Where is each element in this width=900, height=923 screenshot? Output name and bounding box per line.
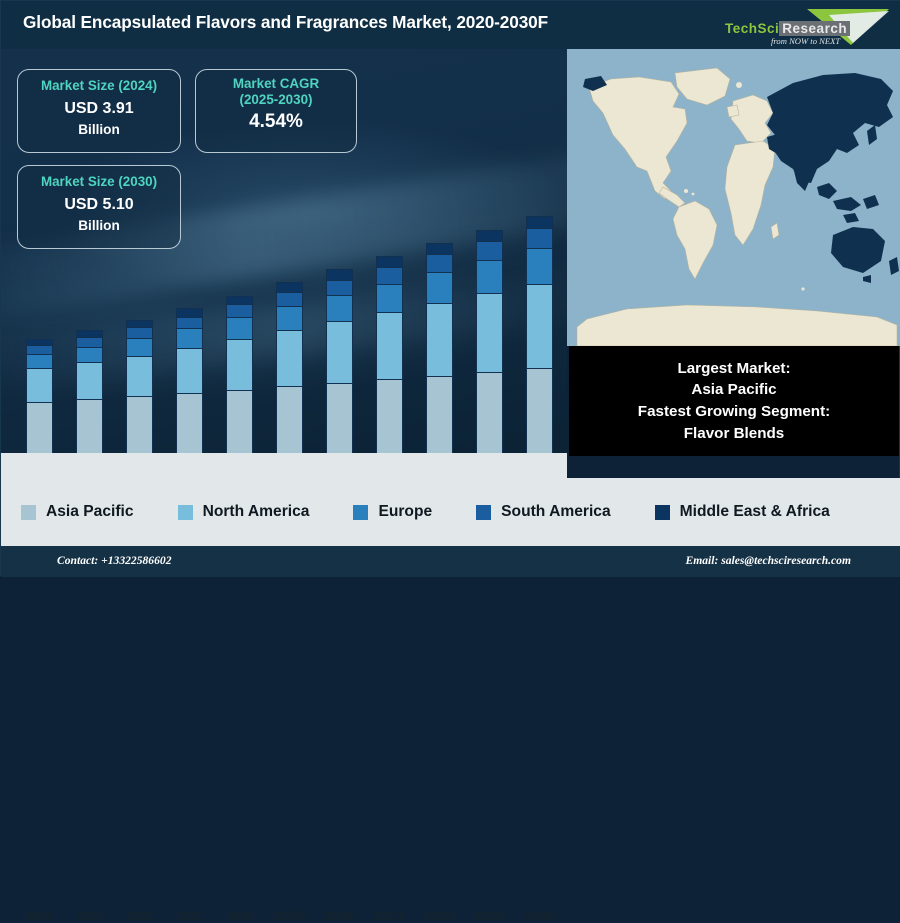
bar-segment-europe — [176, 328, 203, 348]
legend-item-europe[interactable]: Europe — [353, 503, 432, 521]
bar-segment-asia-pacific — [326, 383, 353, 456]
world-map-panel — [567, 49, 900, 346]
bar-segment-asia-pacific — [376, 379, 403, 456]
bar-segment-asia-pacific — [226, 390, 253, 456]
bar-segment-asia-pacific — [76, 399, 103, 456]
footer-email[interactable]: Email: sales@techsciresearch.com — [686, 554, 852, 567]
legend-swatch-icon — [353, 505, 368, 520]
x-tick-2028F: 2028F — [414, 910, 466, 923]
bar-segment-south-america — [426, 254, 453, 272]
bar-2020 — [26, 339, 53, 456]
fastest-segment-value: Flavor Blends — [684, 423, 784, 445]
bar-segment-middle-east-africa — [126, 320, 153, 327]
highlight-info-box: Largest Market: Asia Pacific Fastest Gro… — [569, 346, 899, 456]
bar-segment-asia-pacific — [476, 372, 503, 456]
legend-label: North America — [203, 503, 310, 521]
header-bar: Global Encapsulated Flavors and Fragranc… — [1, 1, 900, 49]
bar-segment-europe — [426, 272, 453, 302]
bar-segment-north-america — [76, 362, 103, 398]
x-tick-2025E: 2025E — [264, 910, 316, 923]
bar-2026F — [326, 269, 353, 456]
bar-2025E — [276, 282, 303, 456]
legend-label: Middle East & Africa — [680, 503, 830, 521]
bar-segment-north-america — [126, 356, 153, 396]
bar-segment-europe — [226, 317, 253, 339]
bar-2028F — [426, 243, 453, 456]
footer-bar: Contact: +13322586602 Email: sales@techs… — [1, 546, 900, 577]
bar-segment-south-america — [176, 317, 203, 329]
bar-segment-europe — [276, 306, 303, 329]
bar-segment-south-america — [226, 304, 253, 317]
bar-segment-north-america — [226, 339, 253, 390]
bar-segment-middle-east-africa — [76, 330, 103, 337]
stacked-bar-chart — [1, 49, 567, 478]
logo-wordmark: TechSciResearch — [725, 21, 850, 36]
world-map-icon — [567, 49, 900, 346]
legend-swatch-icon — [655, 505, 670, 520]
largest-market-label: Largest Market: — [677, 358, 790, 380]
bar-segment-asia-pacific — [126, 396, 153, 456]
bar-segment-asia-pacific — [426, 376, 453, 456]
bar-segment-middle-east-africa — [476, 230, 503, 242]
bar-2029F — [476, 230, 503, 456]
logo-techsci: TechSci — [725, 21, 779, 36]
bar-segment-north-america — [476, 293, 503, 372]
bar-2027F — [376, 256, 403, 456]
bar-segment-middle-east-africa — [276, 282, 303, 292]
legend-item-asia-pacific[interactable]: Asia Pacific — [21, 503, 134, 521]
bar-segment-north-america — [276, 330, 303, 386]
x-tick-2029F: 2029F — [464, 910, 516, 923]
bar-segment-south-america — [126, 327, 153, 338]
bar-segment-europe — [476, 260, 503, 293]
bar-segment-asia-pacific — [526, 368, 553, 456]
bar-segment-south-america — [326, 280, 353, 295]
bar-2021 — [76, 330, 103, 456]
footer-contact: Contact: +13322586602 — [57, 554, 172, 567]
bar-2022 — [126, 320, 153, 456]
bar-segment-europe — [26, 354, 53, 368]
bar-segment-north-america — [326, 321, 353, 383]
x-tick-2027F: 2027F — [364, 910, 416, 923]
bar-2030F — [526, 216, 553, 456]
chart-legend: Asia PacificNorth AmericaEuropeSouth Ame… — [1, 478, 900, 546]
x-tick-2026F: 2026F — [314, 910, 366, 923]
legend-item-north-america[interactable]: North America — [178, 503, 310, 521]
legend-item-south-america[interactable]: South America — [476, 503, 610, 521]
legend-swatch-icon — [21, 505, 36, 520]
x-tick-2021: 2021 — [64, 910, 116, 923]
bar-segment-middle-east-africa — [176, 308, 203, 316]
infographic-root: Global Encapsulated Flavors and Fragranc… — [0, 0, 900, 576]
legend-label: Asia Pacific — [46, 503, 134, 521]
x-tick-2020: 2020 — [14, 910, 66, 923]
x-tick-2024: 2024 — [214, 910, 266, 923]
bar-segment-europe — [126, 338, 153, 356]
bar-segment-asia-pacific — [26, 402, 53, 456]
logo-tagline: from NOW to NEXT — [771, 36, 840, 46]
bar-segment-north-america — [376, 312, 403, 379]
bar-segment-north-america — [176, 348, 203, 393]
bar-segment-asia-pacific — [176, 393, 203, 456]
bar-segment-north-america — [26, 368, 53, 402]
logo-research: Research — [779, 21, 850, 36]
bar-segment-south-america — [26, 345, 53, 354]
legend-label: Europe — [378, 503, 432, 521]
bar-segment-asia-pacific — [276, 386, 303, 456]
x-tick-2022: 2022 — [114, 910, 166, 923]
largest-market-value: Asia Pacific — [691, 379, 776, 401]
legend-swatch-icon — [178, 505, 193, 520]
bar-segment-north-america — [526, 284, 553, 368]
page-title: Global Encapsulated Flavors and Fragranc… — [23, 12, 548, 33]
bar-segment-north-america — [426, 303, 453, 376]
legend-item-middle-east-africa[interactable]: Middle East & Africa — [655, 503, 830, 521]
bar-segment-south-america — [376, 267, 403, 284]
legend-swatch-icon — [476, 505, 491, 520]
bar-segment-middle-east-africa — [426, 243, 453, 254]
chart-panel: Market Size (2024) USD 3.91 Billion Mark… — [1, 49, 567, 478]
bar-segment-europe — [326, 295, 353, 321]
bar-segment-south-america — [76, 337, 103, 347]
techsci-logo: TechSciResearch from NOW to NEXT — [709, 3, 893, 49]
bar-segment-europe — [76, 347, 103, 363]
x-tick-2023: 2023 — [164, 910, 216, 923]
bar-2024 — [226, 296, 253, 456]
bar-segment-south-america — [476, 241, 503, 260]
legend-label: South America — [501, 503, 610, 521]
bar-segment-middle-east-africa — [526, 216, 553, 228]
bar-segment-south-america — [276, 292, 303, 307]
bar-2023 — [176, 308, 203, 456]
bar-segment-middle-east-africa — [326, 269, 353, 279]
bar-segment-europe — [526, 248, 553, 284]
bar-segment-middle-east-africa — [376, 256, 403, 267]
bar-segment-south-america — [526, 228, 553, 249]
bar-segment-middle-east-africa — [226, 296, 253, 305]
x-axis-label-band: 202020212022202320242025E2026F2027F2028F… — [1, 453, 567, 478]
fastest-segment-label: Fastest Growing Segment: — [638, 401, 830, 423]
x-tick-2030F: 2030F — [514, 910, 566, 923]
bar-segment-europe — [376, 284, 403, 312]
